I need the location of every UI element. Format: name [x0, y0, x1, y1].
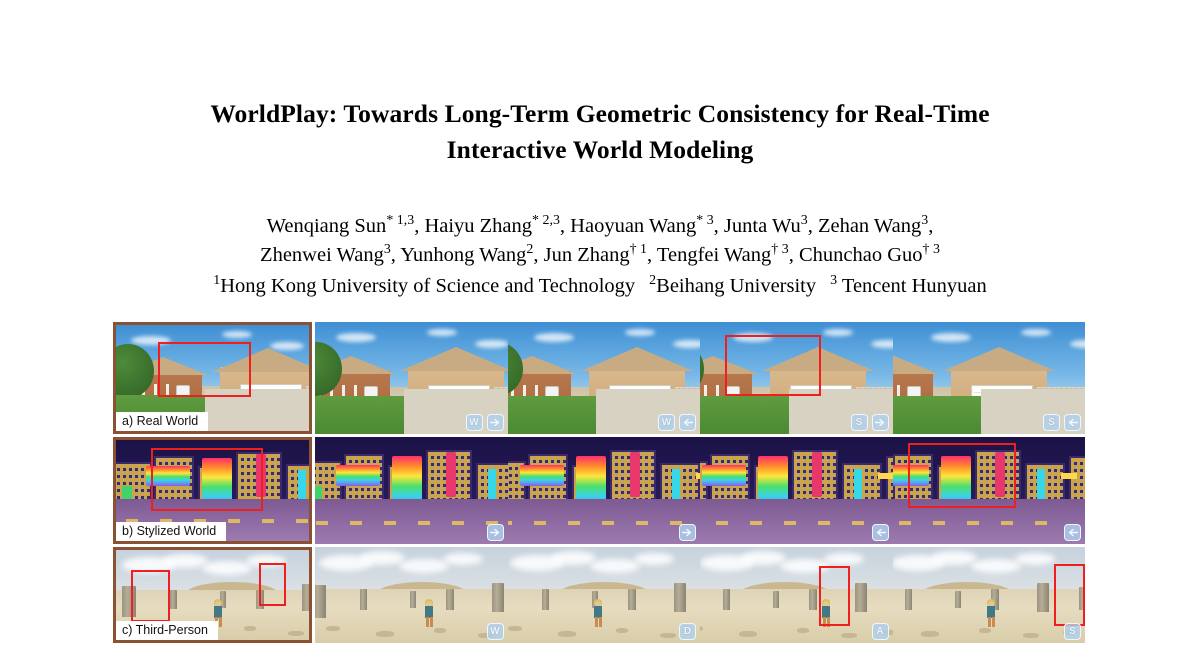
stone-pillar — [773, 591, 779, 608]
author-affiliation-marker: 3 — [921, 213, 928, 228]
lawn — [315, 396, 415, 434]
rock — [508, 626, 522, 631]
stone-pillar — [492, 583, 504, 612]
panel-label: a) Real World — [116, 412, 208, 431]
rock — [797, 628, 809, 633]
lawn — [700, 396, 800, 434]
street-light — [818, 521, 830, 525]
author-affiliation-marker: † 3 — [771, 242, 788, 257]
figure-frame[interactable]: S — [893, 322, 1086, 434]
author-name: Zehan Wang — [818, 215, 921, 237]
character-leg — [823, 617, 826, 627]
lawn — [893, 396, 993, 434]
stone-pillar — [1079, 587, 1085, 610]
key-badges: W — [466, 414, 504, 431]
scene-stylized-world — [315, 437, 508, 544]
cloud — [971, 559, 1021, 573]
figure-frame-strip: WDAS — [315, 547, 1085, 643]
teaser-figure: a) Real WorldWWSSb) Stylized Worldc) Thi… — [113, 322, 1085, 646]
cloud — [550, 551, 596, 565]
roof — [700, 356, 758, 374]
character-leg — [426, 617, 429, 627]
title-line-2: Interactive World Modeling — [0, 132, 1200, 168]
cloud — [823, 329, 853, 336]
figure-reference-frame[interactable]: a) Real World — [113, 322, 312, 434]
street-light — [602, 521, 614, 525]
stone-pillar — [446, 589, 454, 610]
stone-pillar — [628, 589, 636, 610]
player-character — [985, 599, 997, 632]
neon-strip — [1061, 473, 1077, 479]
neon-vertical-sign — [995, 452, 1005, 497]
neon-vertical-sign — [630, 452, 640, 497]
neon-strip — [1037, 469, 1045, 501]
key-s-icon: S — [1043, 414, 1060, 431]
author-affiliation-marker: 3 — [384, 242, 391, 257]
author-name: Jun Zhang — [544, 244, 630, 266]
title-line-1: WorldPlay: Towards Long-Term Geometric C… — [0, 96, 1200, 132]
key-badges — [1064, 524, 1081, 541]
key-s-icon: S — [1064, 623, 1081, 640]
affiliation-list: 1Hong Kong University of Science and Tec… — [0, 269, 1200, 301]
character-leg — [992, 617, 995, 627]
cloud — [634, 553, 674, 565]
arrow-right-key-icon — [487, 524, 504, 541]
rock — [326, 626, 340, 631]
roof — [581, 347, 693, 371]
cloud — [931, 551, 977, 565]
street-light — [1001, 521, 1013, 525]
stone-pillar — [315, 585, 326, 618]
panel-label: b) Stylized World — [116, 522, 226, 541]
figure-frame[interactable] — [893, 437, 1086, 544]
figure-reference-frame[interactable]: b) Stylized World — [113, 437, 312, 544]
neon-vertical-sign — [812, 452, 822, 497]
author-name: Wenqiang Sun — [267, 215, 387, 237]
scene-third-person — [315, 547, 508, 643]
stone-pillar — [905, 589, 912, 610]
author-line-1: Wenqiang Sun* 1,3, Haiyu Zhang* 2,3, Hao… — [0, 212, 1200, 241]
author-name: Tengfei Wang — [657, 244, 771, 266]
figure-frame[interactable] — [508, 437, 701, 544]
cloud — [399, 559, 449, 573]
neon-strip — [488, 469, 496, 501]
street-light — [852, 521, 864, 525]
author-affiliation-marker: * 1,3 — [386, 213, 414, 228]
street-light — [228, 519, 240, 523]
character-leg — [430, 617, 433, 627]
cloud — [443, 553, 483, 565]
cloud — [780, 559, 830, 573]
key-badges: D — [679, 623, 696, 640]
scene-third-person — [700, 547, 893, 643]
roof — [943, 347, 1055, 371]
key-badges: A — [872, 623, 889, 640]
neon-billboard — [893, 465, 929, 486]
street-light — [899, 521, 911, 525]
rock — [244, 626, 256, 631]
roof — [400, 347, 508, 371]
player-character — [592, 599, 604, 632]
author-name: Haoyuan Wang — [570, 215, 696, 237]
street-light — [262, 519, 274, 523]
figure-frame[interactable] — [700, 437, 893, 544]
key-badges: W — [658, 414, 696, 431]
key-s-icon: S — [851, 414, 868, 431]
roof — [212, 348, 309, 372]
street-light — [750, 521, 762, 525]
author-name: Haiyu Zhang — [424, 215, 532, 237]
figure-frame[interactable]: S — [893, 547, 1086, 643]
lawn — [508, 396, 608, 434]
figure-frame[interactable]: D — [508, 547, 701, 643]
cloud — [359, 551, 405, 565]
character-leg — [595, 617, 598, 627]
author-affiliation-marker: † 1 — [630, 242, 647, 257]
author-affiliation-marker: * 3 — [696, 213, 713, 228]
figure-frame[interactable]: W — [508, 322, 701, 434]
stone-pillar — [360, 589, 367, 610]
street-light — [1035, 521, 1047, 525]
neon-strip — [878, 473, 893, 479]
street-light — [508, 521, 512, 525]
arrow-left-key-icon — [679, 414, 696, 431]
figure-frame[interactable]: W — [315, 547, 508, 643]
cloud — [131, 336, 171, 345]
cloud — [625, 329, 655, 336]
street-light — [716, 521, 728, 525]
stone-pillar — [410, 591, 416, 608]
cloud — [1015, 553, 1055, 565]
road — [315, 499, 508, 544]
author-name: Chunchao Guo — [799, 244, 923, 266]
neon-billboard — [520, 465, 564, 486]
neon-strip — [854, 469, 862, 501]
key-badges — [487, 524, 504, 541]
neon-strip — [672, 469, 680, 501]
roof — [893, 356, 939, 374]
rock — [288, 631, 304, 636]
character-leg — [599, 617, 602, 627]
figure-frame[interactable]: S — [700, 322, 893, 434]
stone-pillar — [809, 589, 817, 610]
arrow-left-key-icon — [872, 524, 889, 541]
street-light — [418, 521, 430, 525]
scene-stylized-world — [893, 437, 1086, 544]
author-name: Junta Wu — [724, 215, 801, 237]
neon-vertical-sign — [446, 452, 456, 497]
neon-billboard — [702, 465, 746, 486]
stone-pillar — [122, 586, 136, 617]
author-name: Yunhong Wang — [400, 244, 526, 266]
scene-third-person — [893, 547, 1086, 643]
neon-strip — [298, 470, 306, 500]
figure-frame[interactable]: W — [315, 322, 508, 434]
stone-pillar — [674, 583, 686, 612]
stone-pillar — [855, 583, 867, 612]
cloud — [740, 551, 786, 565]
stone-pillar — [723, 589, 730, 610]
scene-stylized-world — [700, 437, 893, 544]
key-w-icon: W — [658, 414, 675, 431]
figure-frame[interactable] — [315, 437, 508, 544]
figure-reference-frame[interactable]: c) Third-Person — [113, 547, 312, 643]
cloud — [427, 329, 457, 336]
stone-pillar — [256, 590, 264, 610]
affiliation-name: Tencent Hunyuan — [837, 275, 987, 297]
stone-pillar — [955, 591, 961, 608]
street-light — [967, 521, 979, 525]
author-line-2: Zhenwei Wang3, Yunhong Wang2, Jun Zhang†… — [0, 241, 1200, 270]
street-light — [534, 521, 546, 525]
author-affiliation-marker: * 2,3 — [532, 213, 560, 228]
figure-row-row-a: a) Real WorldWWSS — [113, 322, 1085, 434]
street-light — [784, 521, 796, 525]
author-affiliation-marker: 3 — [801, 213, 808, 228]
arrow-right-key-icon — [487, 414, 504, 431]
character-leg — [219, 617, 222, 627]
affiliation-name: Hong Kong University of Science and Tech… — [220, 275, 635, 297]
paper-header: WorldPlay: Towards Long-Term Geometric C… — [0, 0, 1200, 301]
scene-third-person — [508, 547, 701, 643]
scene-stylized-world — [508, 437, 701, 544]
street-light — [933, 521, 945, 525]
figure-row-row-b: b) Stylized World — [113, 437, 1085, 544]
key-badges — [872, 524, 889, 541]
road — [893, 499, 1086, 544]
key-a-icon: A — [872, 623, 889, 640]
author-list: Wenqiang Sun* 1,3, Haiyu Zhang* 2,3, Hao… — [0, 168, 1200, 269]
figure-frame-strip: WWSS — [315, 322, 1085, 434]
page-title: WorldPlay: Towards Long-Term Geometric C… — [0, 0, 1200, 168]
rock — [616, 628, 628, 633]
figure-frame-strip — [315, 437, 1085, 544]
rock — [434, 628, 446, 633]
cloud — [824, 553, 864, 565]
stone-pillar — [542, 589, 549, 610]
cloud — [1021, 329, 1051, 336]
driveway — [205, 389, 309, 431]
street-light — [636, 521, 648, 525]
street-light — [350, 521, 362, 525]
stone-pillar — [302, 584, 309, 611]
arrow-right-key-icon — [679, 524, 696, 541]
player-character — [423, 599, 435, 632]
key-w-icon: W — [487, 623, 504, 640]
key-badges: S — [1043, 414, 1081, 431]
key-badges: W — [487, 623, 504, 640]
cloud — [590, 559, 640, 573]
affiliation-name: Beihang University — [656, 275, 816, 297]
key-w-icon: W — [466, 414, 483, 431]
figure-row-row-c: c) Third-PersonWDAS — [113, 547, 1085, 643]
cloud — [871, 340, 892, 348]
roof — [762, 347, 874, 371]
character-leg — [988, 617, 991, 627]
arrow-left-key-icon — [1064, 414, 1081, 431]
key-badges — [679, 524, 696, 541]
cloud — [162, 554, 208, 568]
panel-label: c) Third-Person — [116, 621, 218, 640]
key-badges: S — [1064, 623, 1081, 640]
street-light — [452, 521, 464, 525]
cloud — [202, 561, 252, 575]
neon-vertical-sign — [256, 454, 266, 496]
street-light — [316, 521, 328, 525]
arrow-left-key-icon — [1064, 524, 1081, 541]
character-leg — [827, 617, 830, 627]
street-light — [384, 521, 396, 525]
neon-billboard — [336, 465, 380, 486]
author-affiliation-marker: 2 — [526, 242, 533, 257]
figure-frame[interactable]: A — [700, 547, 893, 643]
key-d-icon: D — [679, 623, 696, 640]
stone-pillar — [170, 590, 177, 610]
author-affiliation-marker: † 3 — [923, 242, 940, 257]
player-character — [820, 599, 832, 632]
author-name: Zhenwei Wang — [260, 244, 384, 266]
stone-pillar — [1037, 583, 1049, 612]
street-light — [568, 521, 580, 525]
arrow-right-key-icon — [872, 414, 889, 431]
neon-billboard — [146, 466, 190, 486]
key-badges: S — [851, 414, 889, 431]
street-light — [296, 519, 308, 523]
